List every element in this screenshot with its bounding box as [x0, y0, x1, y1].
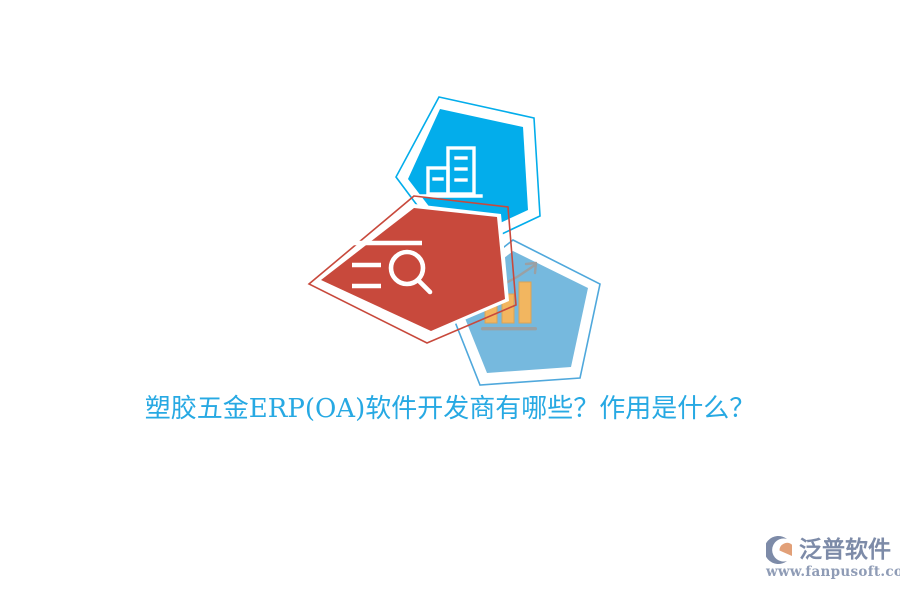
fanpu-swoosh-logo-icon: [766, 535, 796, 565]
brand-watermark: 泛普软件 www.fanpusoft.com: [766, 534, 892, 588]
brand-url: www.fanpusoft.com: [766, 564, 892, 580]
pentagon-cluster-illustration: [295, 88, 605, 398]
brand-name: 泛普软件: [799, 535, 891, 565]
brand-row: 泛普软件: [766, 534, 892, 566]
page-canvas: 塑胶五金ERP(OA)软件开发商有哪些？作用是什么？ 泛普软件 www.fanp…: [0, 0, 900, 600]
page-title: 塑胶五金ERP(OA)软件开发商有哪些？作用是什么？: [0, 392, 900, 426]
